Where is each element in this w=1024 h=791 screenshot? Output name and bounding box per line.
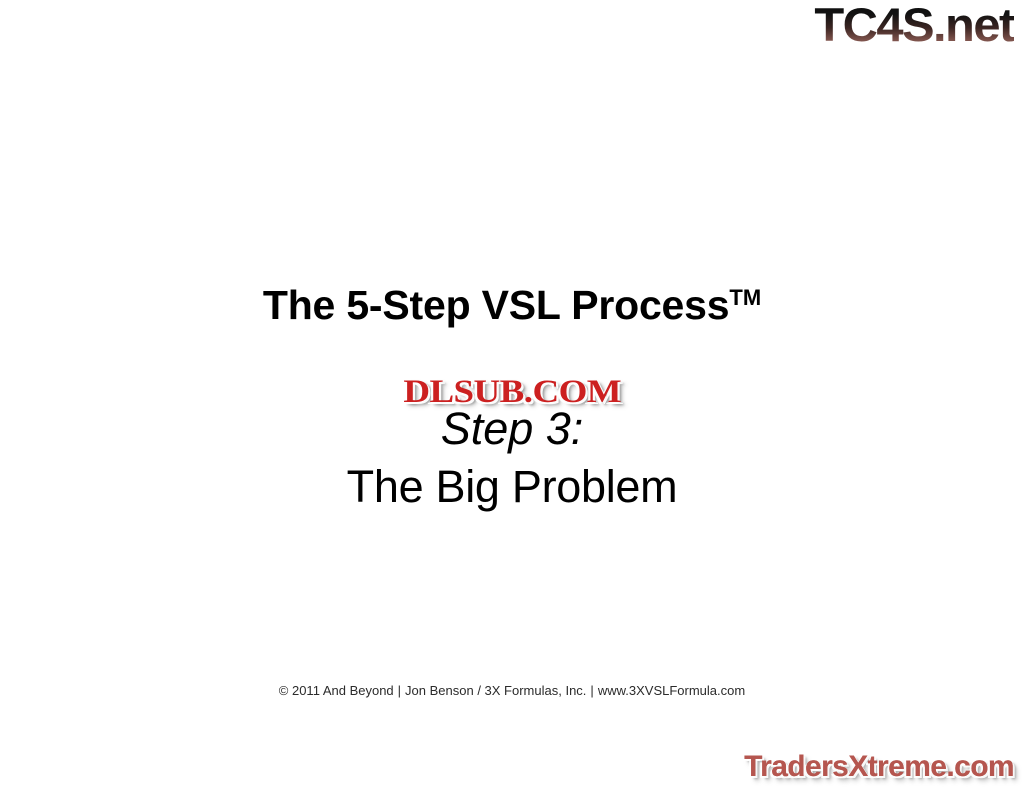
footer-author: Jon Benson / 3X Formulas, Inc. xyxy=(405,683,586,698)
slide-subtitle: Step 3: The Big Problem xyxy=(0,400,1024,516)
page-title-text: The 5-Step VSL Process xyxy=(263,282,730,328)
footer-separator-1: | xyxy=(394,683,405,698)
presentation-slide: TC4S.net The 5-Step VSL ProcessTM Step 3… xyxy=(0,0,1024,791)
footer-website: www.3XVSLFormula.com xyxy=(598,683,745,698)
subtitle-step-line: Step 3: xyxy=(0,400,1024,458)
footer-copyright: © 2011 And Beyond xyxy=(279,683,394,698)
watermark-tradersxtreme-com: TradersXtreme.com xyxy=(744,749,1014,785)
slide-footer: © 2011 And Beyond|Jon Benson / 3X Formul… xyxy=(0,682,1024,700)
trademark-symbol: TM xyxy=(729,285,761,310)
footer-separator-2: | xyxy=(586,683,597,698)
page-title: The 5-Step VSL ProcessTM xyxy=(0,275,1024,328)
watermark-tc4s-net: TC4S.net xyxy=(815,0,1014,50)
subtitle-topic-line: The Big Problem xyxy=(0,458,1024,516)
